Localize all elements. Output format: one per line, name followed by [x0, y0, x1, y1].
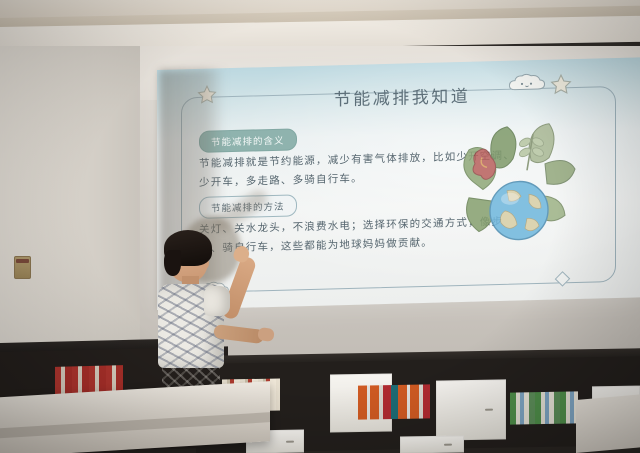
- cabinet-door[interactable]: [400, 435, 464, 453]
- cloud-icon: [507, 72, 547, 100]
- wall-switch-plate: [14, 256, 31, 279]
- hair-side: [164, 250, 181, 276]
- books-shelf-b: [358, 384, 430, 419]
- wall-left-lit: [0, 46, 140, 366]
- sleeve: [204, 286, 230, 316]
- books-shelf-c: [510, 391, 578, 424]
- earth-with-leaves-illustration: [455, 117, 583, 260]
- table-right: [576, 392, 640, 453]
- cabinet-door[interactable]: [436, 379, 506, 440]
- classroom-photo: 节能减排我知道 节能减排的含义 节能减排就是节约能源，减少有害气体排放，比如少开…: [0, 0, 640, 453]
